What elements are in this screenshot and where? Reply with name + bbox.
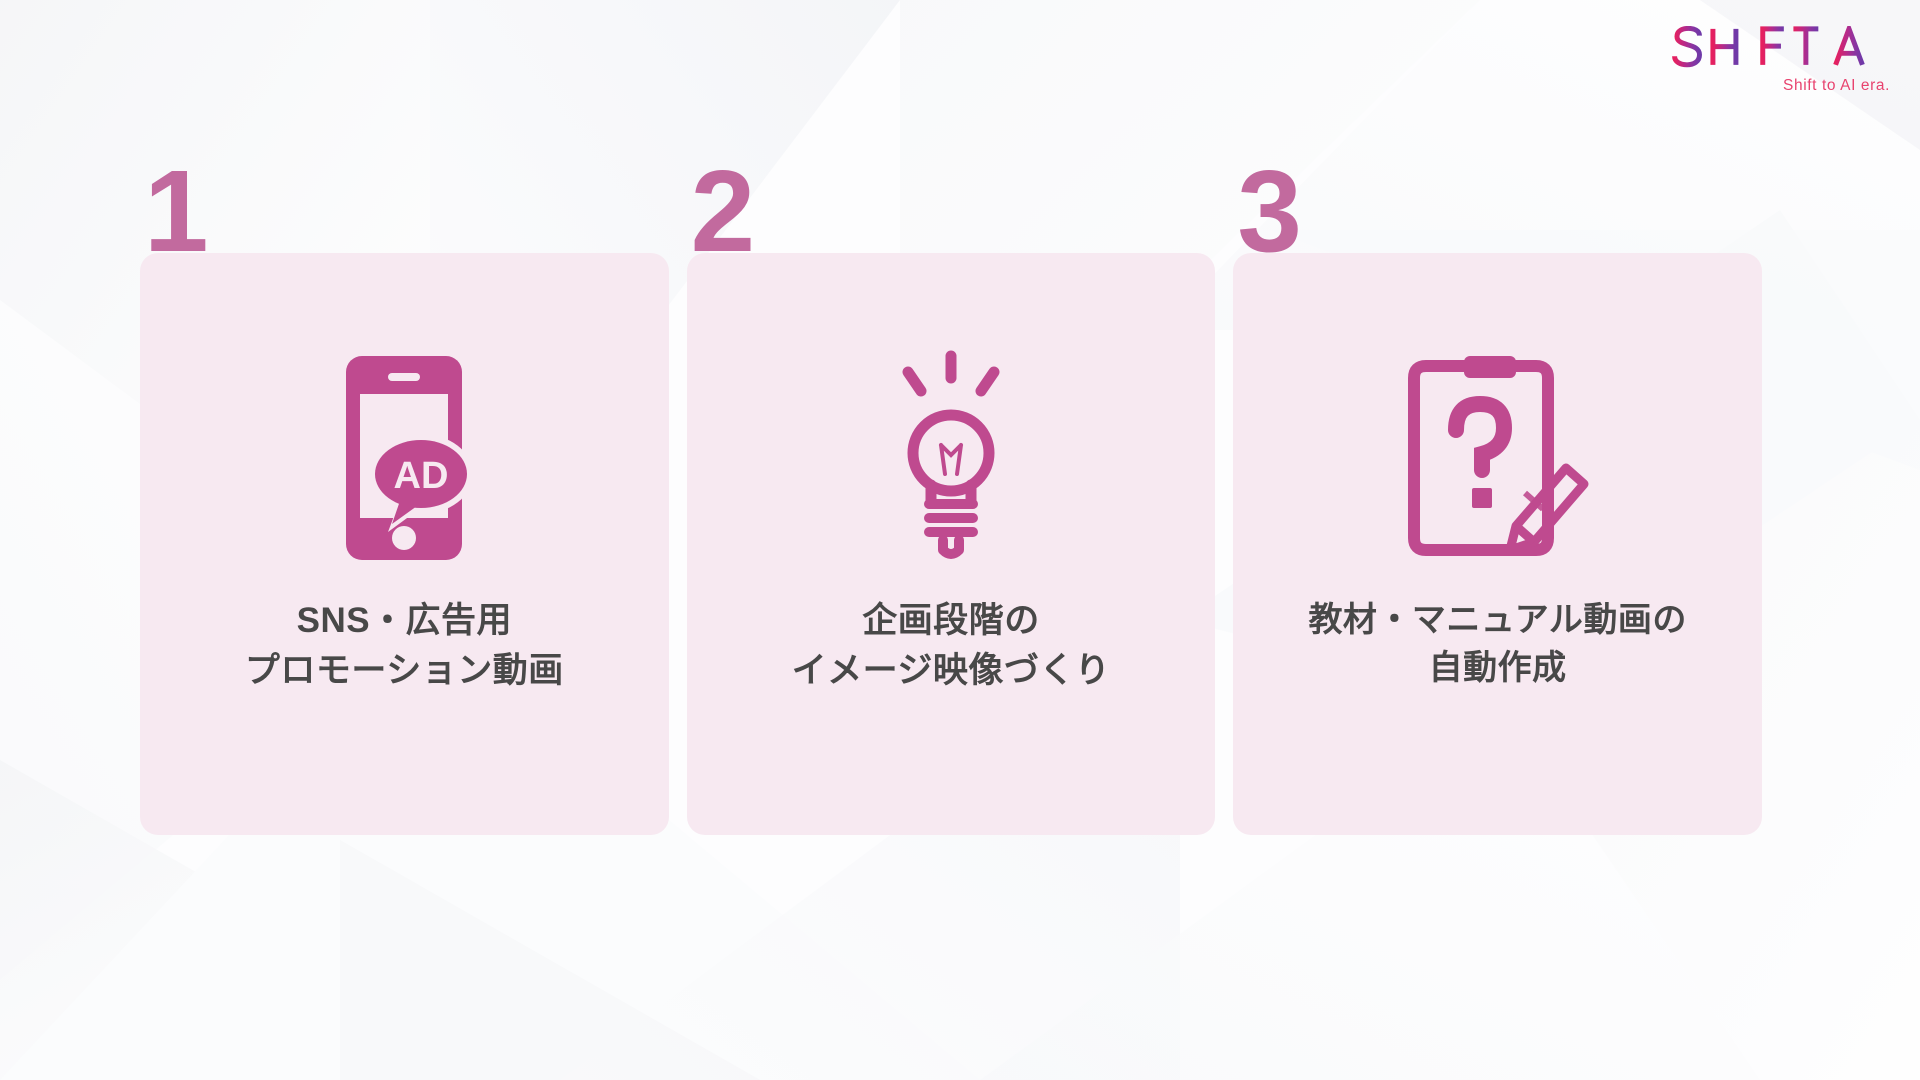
- brand-logo: Shift to AI era.: [1666, 26, 1894, 94]
- smartphone-ad-icon: AD: [314, 348, 494, 568]
- feature-card-2[interactable]: 2: [687, 253, 1216, 835]
- ad-badge-text: AD: [394, 455, 449, 497]
- shift-ai-wordmark-icon: [1666, 26, 1894, 72]
- clipboard-question-pencil-icon: [1398, 348, 1598, 568]
- card-label-3: 教材・マニュアル動画の 自動作成: [1290, 596, 1704, 693]
- card-number-1: 1: [144, 153, 207, 269]
- card-number-3: 3: [1237, 153, 1300, 269]
- feature-cards-row: 1: [140, 253, 1762, 835]
- card-number-2: 2: [691, 153, 754, 269]
- card-label-2: 企画段階の イメージ映像づくり: [774, 596, 1129, 695]
- lightbulb-idea-icon: [861, 348, 1041, 568]
- feature-card-1[interactable]: 1: [140, 253, 669, 835]
- card-label-1: SNS・広告用 プロモーション動画: [227, 596, 582, 695]
- slide-canvas: Shift to AI era. 1: [0, 0, 1920, 1080]
- logo-tagline: Shift to AI era.: [1666, 78, 1890, 94]
- feature-card-3[interactable]: 3: [1233, 253, 1762, 835]
